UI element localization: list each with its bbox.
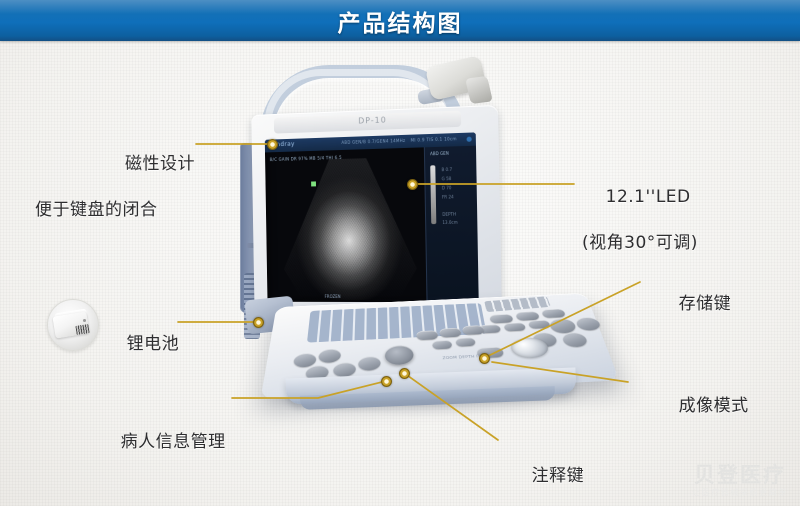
control-key — [432, 340, 452, 349]
screen-panel-row: DEPTH — [442, 212, 456, 217]
lid-brand-label: DP-10 — [343, 114, 402, 128]
screen-top-center-text: ABD GEN/B 0.7/GEN4 14MHz — [341, 138, 405, 145]
watermark-brand: 贝登医疗 — [692, 463, 788, 487]
function-key-row — [484, 296, 551, 312]
screen-panel-row: FR 24 — [442, 194, 454, 199]
screen-status-dot-icon — [467, 136, 472, 141]
patient-info-button — [318, 349, 341, 364]
label-led-display-line2: (视角30°可调) — [582, 232, 698, 255]
screen-panel-row: G 58 — [442, 176, 452, 181]
soft-key — [541, 309, 566, 318]
marker-led-display — [407, 179, 418, 190]
gain-knob — [385, 345, 414, 365]
annotation-key-button — [358, 356, 381, 371]
alphanumeric-keypad — [307, 303, 487, 342]
annotation-key-button — [333, 362, 356, 377]
marker-storage-key — [479, 353, 490, 364]
imaging-mode-button — [575, 317, 602, 331]
ultrasound-device-illustration: DP-10 mindray ABD GEN/B 0.7/GEN4 14MHz M… — [240, 55, 600, 425]
ultrasound-probe-tip — [465, 76, 493, 104]
screen-side-panel: ABD GEN B 0.7 G 58 D 70 FR 24 DEPTH 13.0… — [424, 146, 479, 303]
page-header: 产品结构图 — [0, 0, 800, 41]
label-storage-key-text: 存储键 — [679, 294, 732, 314]
screen-panel-header: ABD GEN — [430, 151, 449, 157]
label-lithium-battery-text: 锂电池 — [127, 334, 180, 354]
screen-panel-row: D 70 — [442, 185, 452, 190]
marker-lithium-battery — [253, 317, 264, 328]
label-patient-info-management: 病人信息管理 — [97, 408, 226, 477]
marker-imaging-mode-annotation — [399, 368, 410, 379]
control-key — [462, 325, 484, 335]
label-magnetic-design: 磁性设计 便于键盘的闭合 — [95, 130, 195, 268]
marker-patient-info — [381, 376, 392, 387]
label-imaging-mode-text: 成像模式 — [679, 396, 749, 416]
screen-top-right-text: MI 0.9 TIS 0.1 10cm — [411, 136, 457, 143]
display-screen: mindray ABD GEN/B 0.7/GEN4 14MHz MI 0.9 … — [265, 132, 479, 302]
marker-magnetic-design — [267, 139, 278, 150]
control-key — [416, 330, 438, 340]
storage-key-button — [548, 318, 577, 334]
label-storage-key: 存储键 — [655, 270, 731, 339]
screen-panel-row: 13.0cm — [442, 220, 457, 225]
label-imaging-mode: 成像模式 — [655, 372, 749, 441]
label-patient-info-text: 病人信息管理 — [121, 432, 226, 452]
soft-key — [515, 311, 540, 320]
screen-panel-row: B 0.7 — [441, 167, 452, 172]
control-key — [455, 337, 476, 346]
label-led-display-line1: 12.1''LED — [606, 187, 691, 207]
soft-key — [489, 314, 513, 323]
label-lithium-battery: 锂电池 — [103, 310, 179, 379]
label-annotation-key-text: 注释键 — [532, 466, 585, 486]
mode-key-button — [561, 332, 589, 347]
battery-indicator-led-icon — [83, 319, 86, 322]
product-structure-diagram: 产品结构图 DP-10 mindray ABD GEN/B 0.7/GEN4 1… — [0, 0, 800, 506]
page-title: 产品结构图 — [0, 0, 800, 41]
screen-grayscale-bar — [430, 165, 436, 224]
watermark: 贝登医疗 让医疗器械采购更简单 — [692, 463, 788, 498]
ultrasound-speckle-noise — [282, 157, 417, 300]
screen-bottom-text: FROZEN — [325, 294, 341, 299]
label-annotation-key: 注释键 — [508, 442, 584, 506]
soft-key — [528, 320, 551, 329]
screen-caliper-marker-icon — [311, 181, 316, 186]
monitor-lid: DP-10 mindray ABD GEN/B 0.7/GEN4 14MHz M… — [251, 105, 502, 316]
lithium-battery-inset-photo — [47, 299, 99, 351]
label-magnetic-design-line2: 便于键盘的闭合 — [35, 199, 195, 222]
control-key — [439, 328, 461, 338]
label-magnetic-design-line1: 磁性设计 — [125, 154, 195, 174]
watermark-slogan: 让医疗器械采购更简单 — [692, 487, 788, 498]
soft-key — [503, 323, 526, 332]
